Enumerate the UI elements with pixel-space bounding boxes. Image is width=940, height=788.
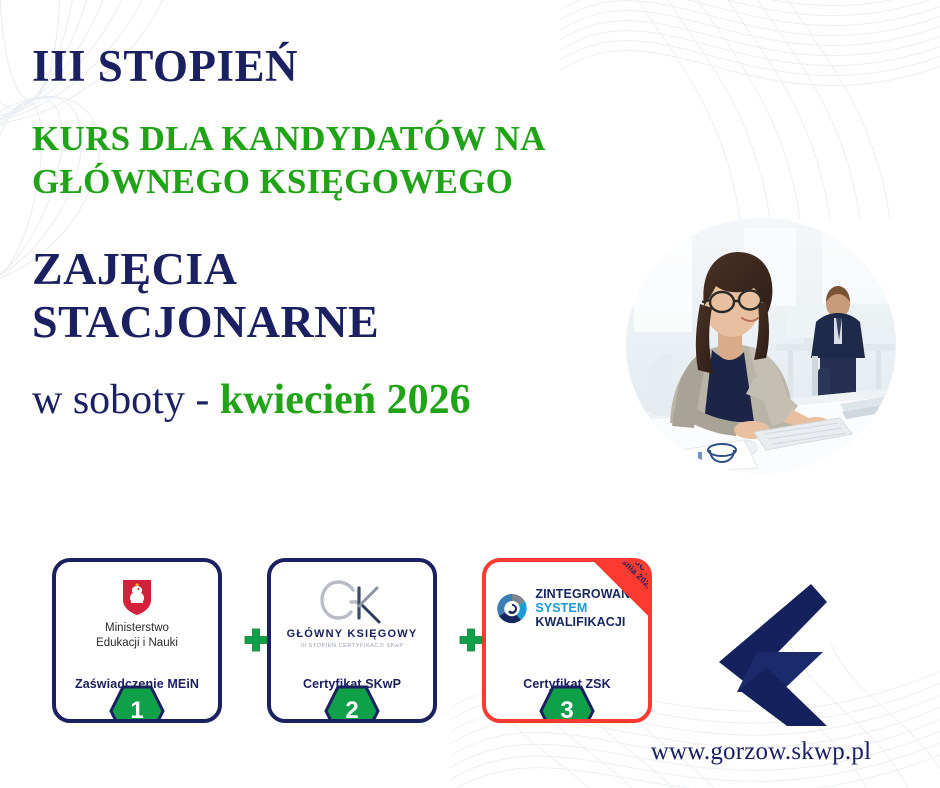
step-badge-1: 1 [109, 683, 165, 723]
zsk-swirl-icon [495, 592, 529, 626]
card-skwp-logo-sub: III STOPIEŃ CERTYFIKACJI SKwP [271, 643, 433, 649]
website-url[interactable]: www.gorzow.skwp.pl [626, 738, 896, 766]
card-zsk-logo-line-2: SYSTEM [535, 602, 638, 616]
certificate-card-skwp[interactable]: GŁÓWNY KSIĘGOWY III STOPIEŃ CERTYFIKACJI… [267, 558, 437, 723]
step-badge-1-number: 1 [109, 683, 165, 723]
step-badge-2-number: 2 [324, 683, 380, 723]
polish-eagle-emblem-icon [121, 578, 153, 616]
course-mode-line-2: STACJONARNE [32, 295, 672, 348]
headline-block: III STOPIEŃ KURS DLA KANDYDATÓW NA GŁÓWN… [32, 44, 672, 423]
step-badge-2: 2 [324, 683, 380, 723]
brand-block: www.gorzow.skwp.pl [626, 580, 896, 766]
card-mein-org: Ministerstwo Edukacji i Nauki [56, 621, 218, 650]
certificate-card-mein[interactable]: Ministerstwo Edukacji i Nauki Zaświadcze… [52, 558, 222, 723]
skwp-k-logo-icon [695, 580, 827, 728]
card-zsk-logo-text: ZINTEGROWANY SYSTEM KWALIFIKACJI [535, 588, 638, 629]
step-badge-3: 3 [539, 683, 595, 723]
card-zsk-logo-line-3: KWALIFIKACJI [535, 616, 638, 630]
course-level-heading: III STOPIEŃ [32, 44, 672, 89]
course-mode: ZAJĘCIA STACJONARNE [32, 242, 672, 349]
step-badge-3-number: 3 [539, 683, 595, 723]
course-schedule: w soboty - kwiecień 2026 [32, 377, 672, 423]
promo-poster: III STOPIEŃ KURS DLA KANDYDATÓW NA GŁÓWN… [0, 0, 940, 788]
card-skwp-body: GŁÓWNY KSIĘGOWY III STOPIEŃ CERTYFIKACJI… [271, 576, 433, 649]
schedule-days: w soboty - [32, 377, 220, 423]
card-mein-body: Ministerstwo Edukacji i Nauki [56, 576, 218, 650]
card-skwp-logo-name: GŁÓWNY KSIĘGOWY [271, 628, 433, 640]
gk-logo-icon [315, 580, 389, 626]
card-zsk-body: ZINTEGROWANY SYSTEM KWALIFIKACJI [486, 588, 648, 629]
plus-icon [458, 628, 484, 654]
card-mein-org-line-2: Edukacji i Nauki [56, 636, 218, 651]
certificates-row: Ministerstwo Edukacji i Nauki Zaświadcze… [52, 558, 672, 733]
course-mode-line-1: ZAJĘCIA [32, 242, 672, 295]
course-title: KURS DLA KANDYDATÓW NA GŁÓWNEGO KSIĘGOWE… [32, 117, 632, 204]
course-title-line-1: KURS DLA KANDYDATÓW NA [32, 117, 632, 160]
plus-icon [243, 628, 269, 654]
card-mein-org-line-1: Ministerstwo [56, 621, 218, 636]
course-title-line-2: GŁÓWNEGO KSIĘGOWEGO [32, 160, 632, 203]
schedule-month: kwiecień 2026 [220, 377, 471, 423]
